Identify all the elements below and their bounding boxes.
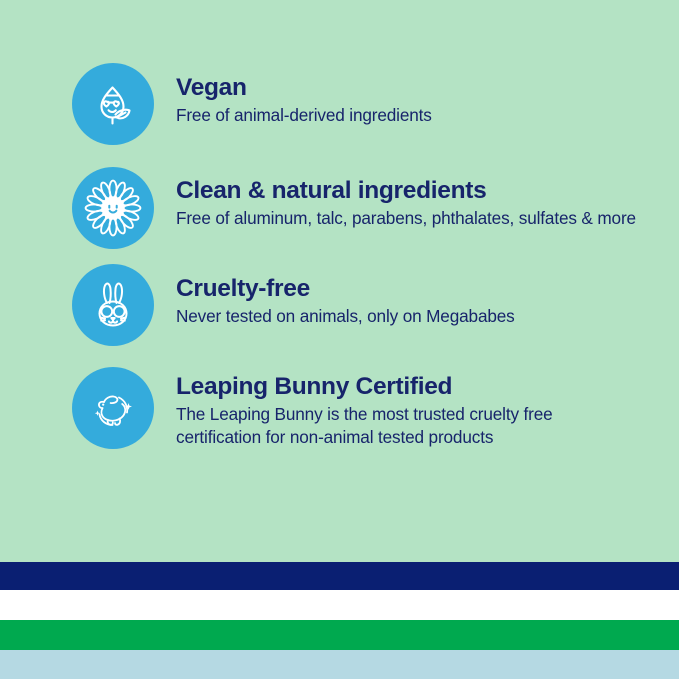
feature-item-cruelty-free: Cruelty-free Never tested on animals, on… <box>0 263 679 346</box>
bottom-color-bands <box>0 562 679 679</box>
feature-text-block: Cruelty-free Never tested on animals, on… <box>154 263 515 328</box>
feature-text-block: Clean & natural ingredients Free of alum… <box>154 166 636 230</box>
leaping-bunny-icon <box>72 367 154 449</box>
feature-item-clean-natural: Clean & natural ingredients Free of alum… <box>0 166 679 249</box>
feature-description: Never tested on animals, only on Megabab… <box>176 305 515 328</box>
feature-text-block: Vegan Free of animal-derived ingredients <box>154 62 432 127</box>
feature-title: Cruelty-free <box>176 276 515 302</box>
feature-title: Clean & natural ingredients <box>176 178 636 204</box>
band-light-blue <box>0 650 679 679</box>
feature-list: Vegan Free of animal-derived ingredients <box>0 0 679 470</box>
daisy-flower-face-icon <box>72 167 154 249</box>
product-benefits-panel: Vegan Free of animal-derived ingredients <box>0 0 679 679</box>
feature-item-vegan: Vegan Free of animal-derived ingredients <box>0 62 679 145</box>
vegan-leaf-face-icon <box>72 63 154 145</box>
feature-description: Free of animal-derived ingredients <box>176 104 432 127</box>
feature-text-block: Leaping Bunny Certified The Leaping Bunn… <box>154 366 636 449</box>
bunny-face-sunglasses-icon <box>72 264 154 346</box>
feature-title: Vegan <box>176 75 432 101</box>
band-white <box>0 590 679 620</box>
feature-description: The Leaping Bunny is the most trusted cr… <box>176 403 636 449</box>
feature-description: Free of aluminum, talc, parabens, phthal… <box>176 207 636 230</box>
feature-title: Leaping Bunny Certified <box>176 374 636 400</box>
feature-item-leaping-bunny: Leaping Bunny Certified The Leaping Bunn… <box>0 366 679 449</box>
band-green <box>0 620 679 650</box>
band-navy <box>0 562 679 590</box>
